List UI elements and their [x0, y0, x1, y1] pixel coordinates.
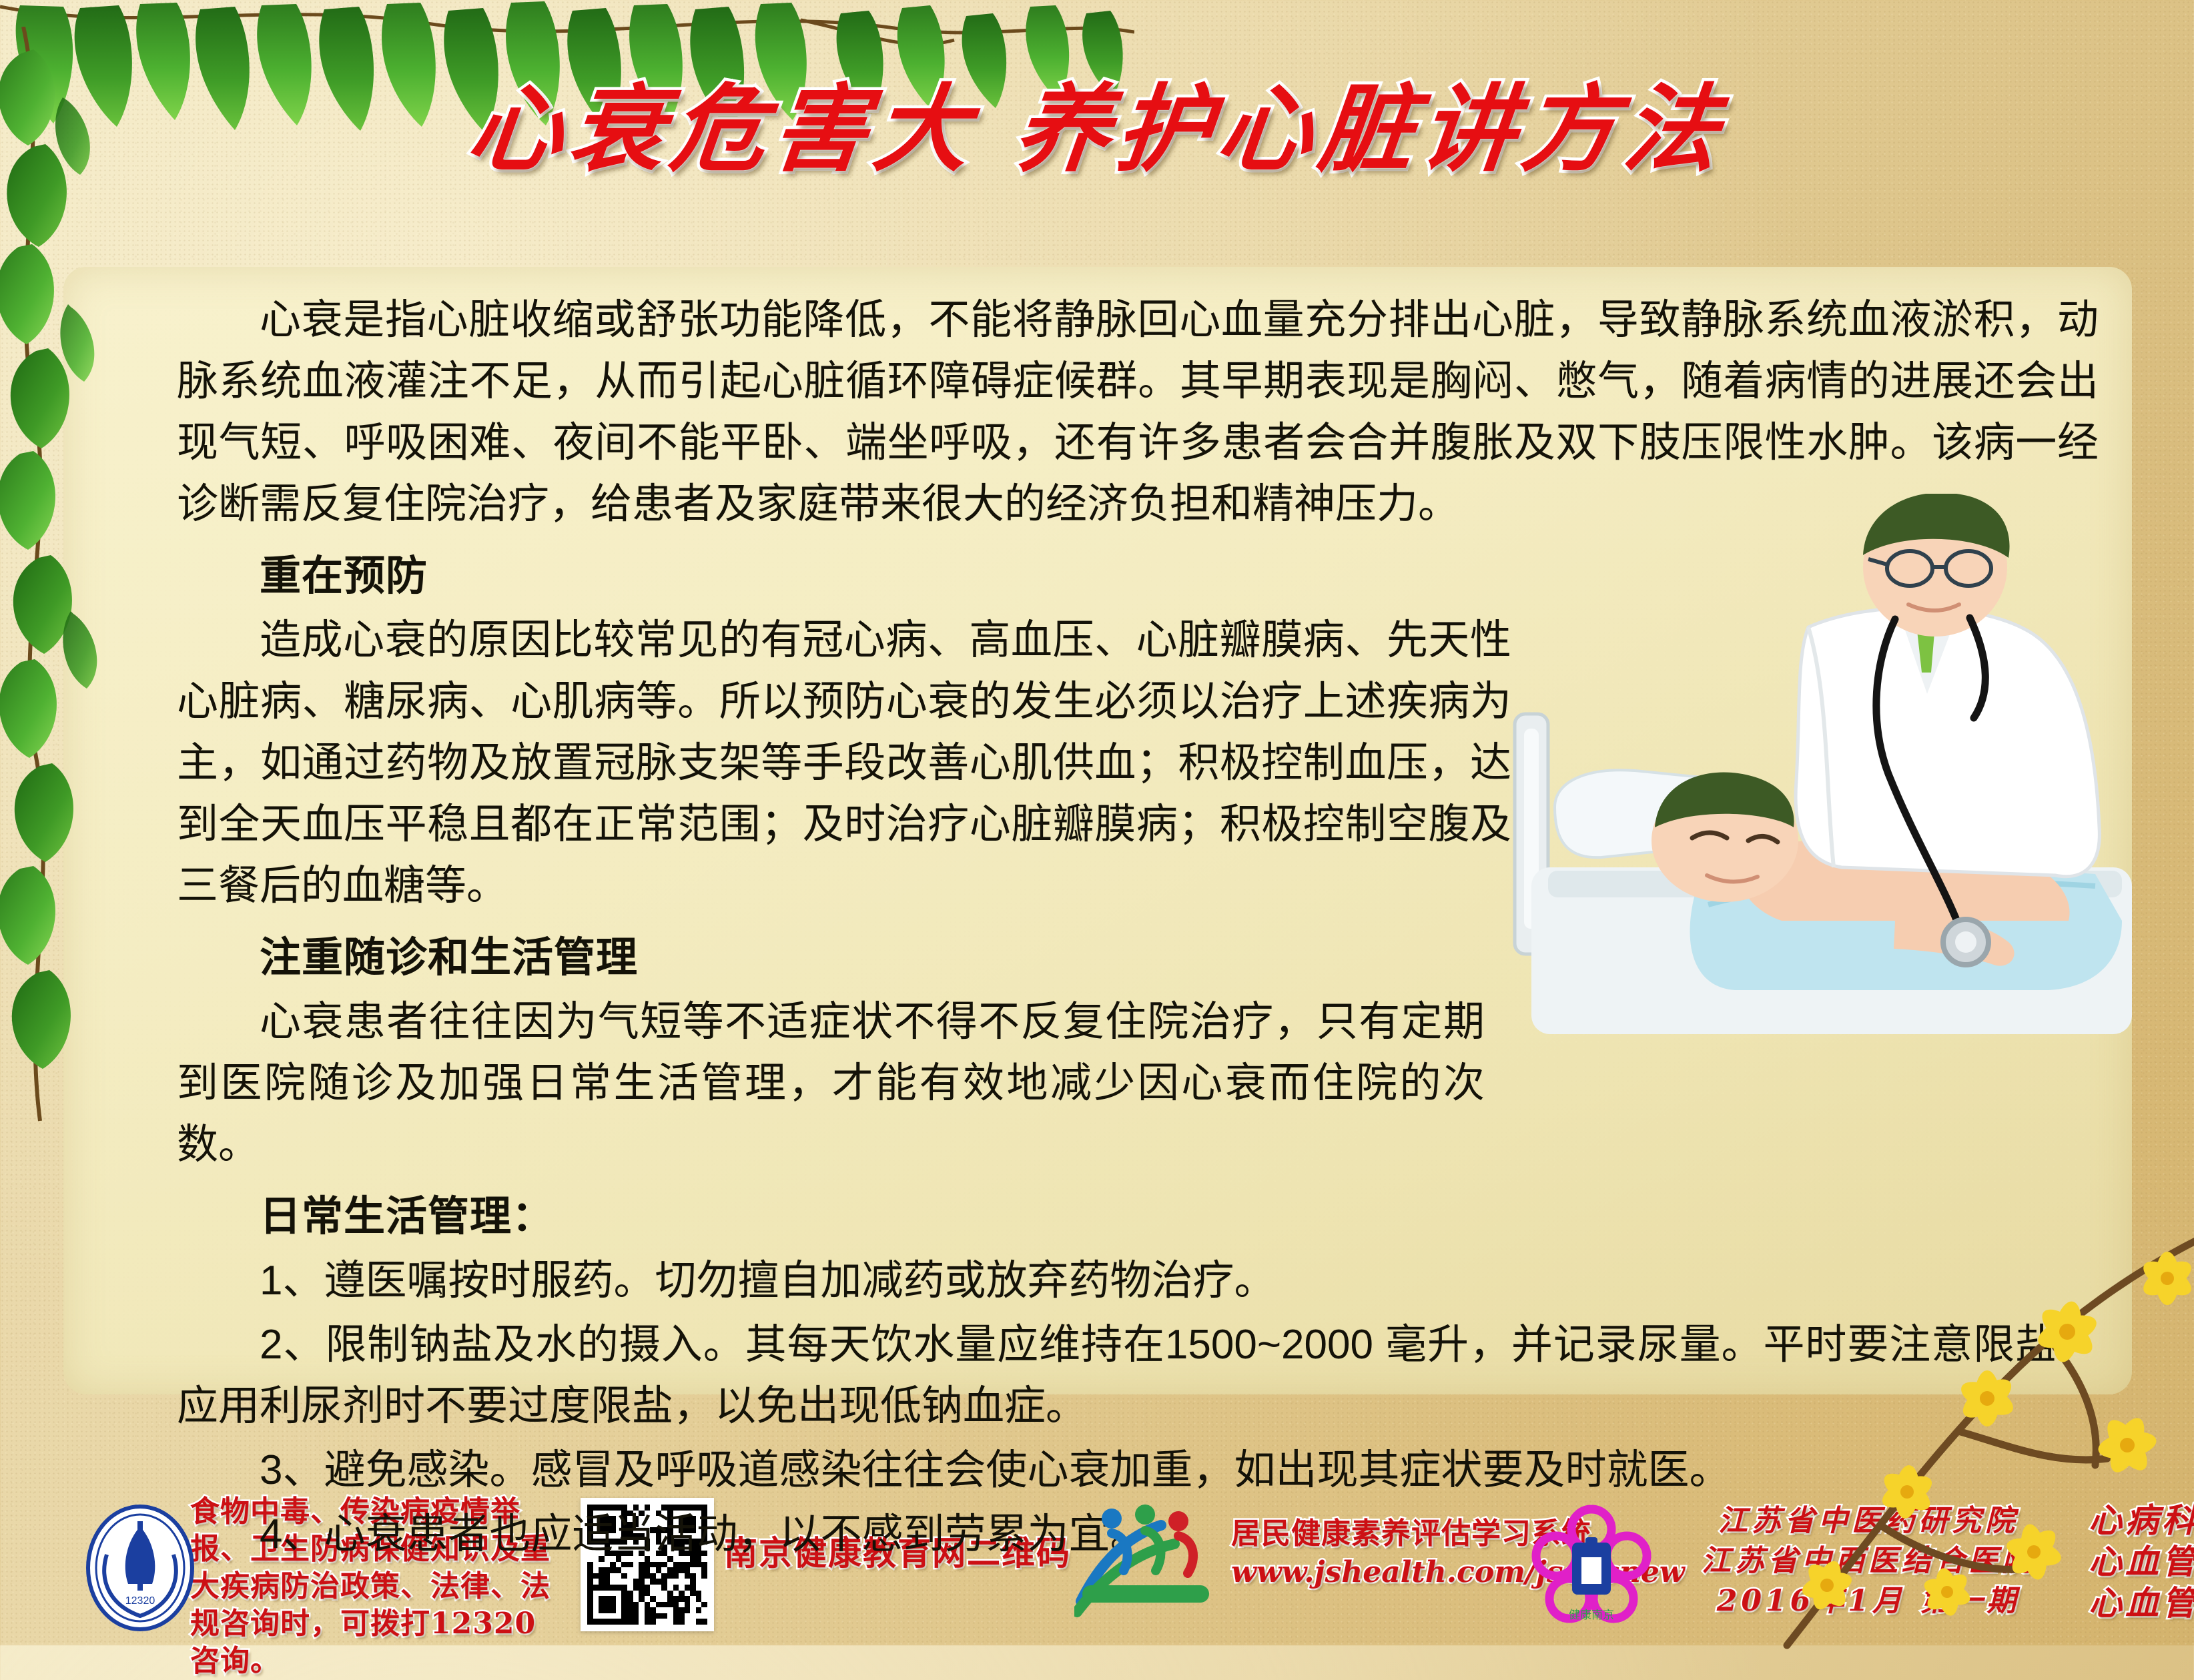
svg-text:健康南京: 健康南京 — [1569, 1609, 1614, 1621]
svg-text:12320: 12320 — [125, 1595, 155, 1607]
health-literacy-system-logo — [1074, 1501, 1221, 1628]
doctor-coat — [1796, 608, 2099, 877]
page-title: 心衰危害大 养护心脏讲方法 — [463, 80, 1730, 179]
list-item: 1、遵医嘱按时服药。切勿擅自加减药或放弃药物治疗。 — [177, 1250, 2099, 1312]
healthy-nanjing-logo: 健康南京 — [1528, 1501, 1655, 1631]
issue-date: 2016年1月 第一期 — [1648, 1581, 2089, 1621]
section-body-prevention: 造成心衰的原因比较常见的有冠心病、高血压、心脏瓣膜病、先天性心脏病、糖尿病、心肌… — [177, 610, 1511, 917]
illustration-doctor-examining-patient — [1495, 494, 2169, 1047]
poster-title-container: 心衰危害大 养护心脏讲方法 — [0, 80, 2194, 179]
list-item: 3、避免感染。感冒及呼吸道感染往往会使心衰加重，如出现其症状要及时就医。 — [177, 1440, 2099, 1501]
cdc-emblem-logo: 12320 — [80, 1501, 200, 1635]
section-heading-daily-management: 日常生活管理： — [177, 1186, 2099, 1248]
list-item: 2、限制钠盐及水的摄入。其每天饮水量应维持在1500~2000 毫升，并记录尿量… — [177, 1314, 2099, 1437]
section-body-followup: 心衰患者往往因为气短等不适症状不得不反复住院治疗，只有定期到医院随诊及加强日常生… — [177, 991, 1485, 1176]
